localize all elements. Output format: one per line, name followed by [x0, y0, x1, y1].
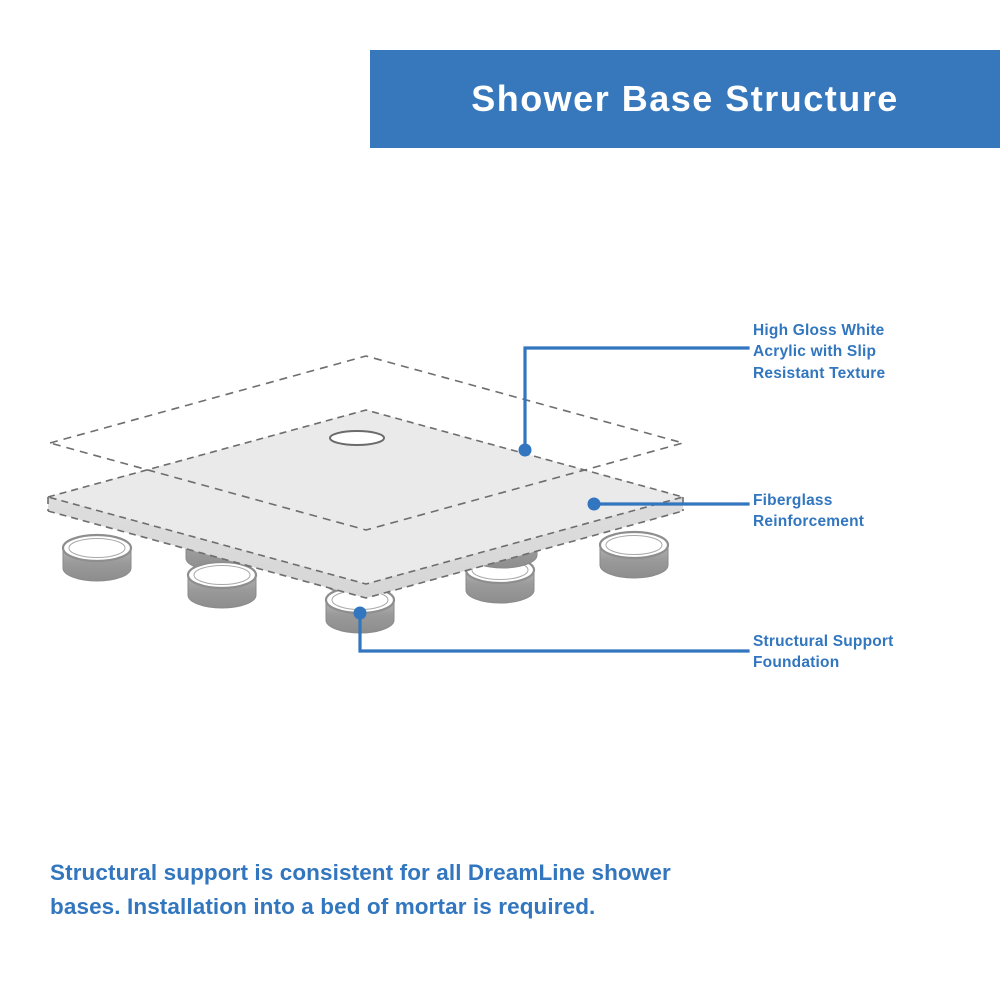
- support-ring: [600, 532, 668, 578]
- callout-label-support: Structural Support Foundation: [753, 631, 894, 674]
- support-ring: [188, 562, 256, 608]
- footer-caption: Structural support is consistent for all…: [50, 856, 690, 924]
- support-ring: [63, 535, 131, 581]
- callout-label-acrylic: High Gloss White Acrylic with Slip Resis…: [753, 320, 885, 384]
- drain-ellipse: [330, 431, 384, 445]
- leader-line-support: [354, 607, 749, 652]
- leader-line-acrylic: [519, 348, 749, 457]
- page-title: Shower Base Structure: [471, 78, 899, 120]
- callout-label-fiberglass: Fiberglass Reinforcement: [753, 490, 864, 533]
- title-banner: Shower Base Structure: [370, 50, 1000, 148]
